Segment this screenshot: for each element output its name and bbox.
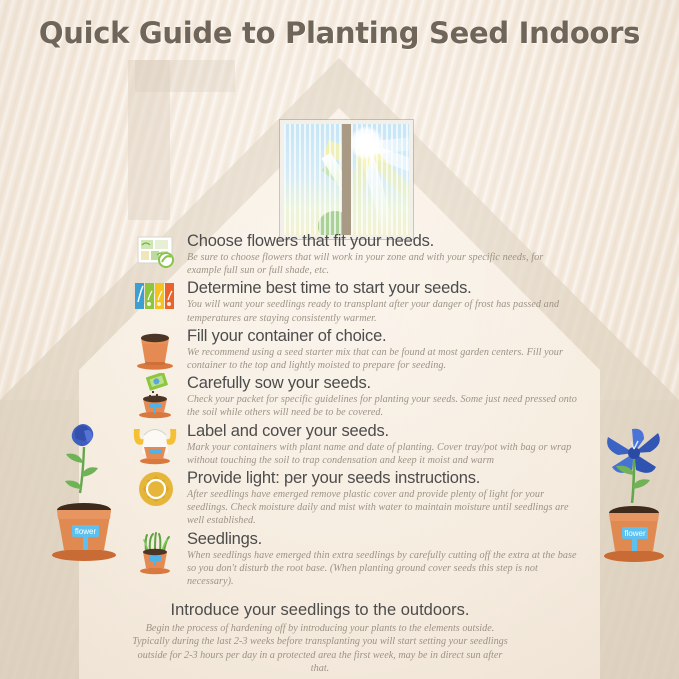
window-frame (280, 120, 413, 239)
footer-heading: Introduce your seedlings to the outdoors… (120, 600, 520, 621)
step-item: Choose flowers that fit your needs. Be s… (132, 231, 580, 277)
footer-block: Introduce your seedlings to the outdoors… (120, 600, 520, 676)
filled-pot-icon (132, 326, 182, 372)
step-item: Label and cover your seeds. Mark your co… (132, 421, 580, 467)
pot-label: flower (624, 529, 646, 538)
step-item: Carefully sow your seeds. Check your pac… (132, 373, 580, 419)
potted-blue-lily-icon: flower (596, 425, 676, 565)
step-body: After seedlings have emerged remove plas… (187, 488, 580, 528)
step-item: Determine best time to start your seeds.… (132, 278, 580, 324)
flower-head (72, 424, 94, 446)
seedlings-pot-icon (132, 529, 182, 575)
sowing-seed-packet-icon (132, 373, 182, 419)
step-heading: Label and cover your seeds. (187, 421, 580, 441)
step-heading: Carefully sow your seeds. (187, 373, 580, 393)
step-heading: Choose flowers that fit your needs. (187, 231, 580, 251)
step-body: Check your packet for specific guideline… (187, 393, 580, 419)
pot-label: flower (75, 527, 97, 536)
page-title: Quick Guide to Planting Seed Indoors (0, 16, 679, 50)
step-heading: Seedlings. (187, 529, 580, 549)
footer-body: Begin the process of hardening off by in… (120, 621, 520, 676)
step-item: Seedlings. When seedlings have emerged t… (132, 529, 580, 589)
covered-pot-with-gloves-icon (132, 421, 182, 467)
potted-blue-flower-icon: flower (40, 415, 126, 565)
window-with-sun-icon (280, 120, 413, 239)
step-heading: Determine best time to start your seeds. (187, 278, 580, 298)
step-item: Fill your container of choice. We recomm… (132, 326, 580, 372)
step-body: Mark your containers with plant name and… (187, 441, 580, 467)
step-item: Provide light: per your seeds instructio… (132, 468, 580, 528)
infographic-poster: Quick Guide to Planting Seed Indoors Cho… (0, 0, 679, 679)
steps-list: Choose flowers that fit your needs. Be s… (132, 231, 580, 589)
step-body: When seedlings have emerged thin extra s… (187, 549, 580, 589)
step-heading: Fill your container of choice. (187, 326, 580, 346)
step-body: You will want your seedlings ready to tr… (187, 298, 580, 324)
step-heading: Provide light: per your seeds instructio… (187, 468, 580, 488)
seed-catalog-icon (132, 231, 182, 277)
sun-light-icon (132, 468, 182, 514)
step-body: Be sure to choose flowers that will work… (187, 251, 580, 277)
seed-packets-icon (132, 278, 182, 324)
step-body: We recommend using a seed starter mix th… (187, 346, 580, 372)
